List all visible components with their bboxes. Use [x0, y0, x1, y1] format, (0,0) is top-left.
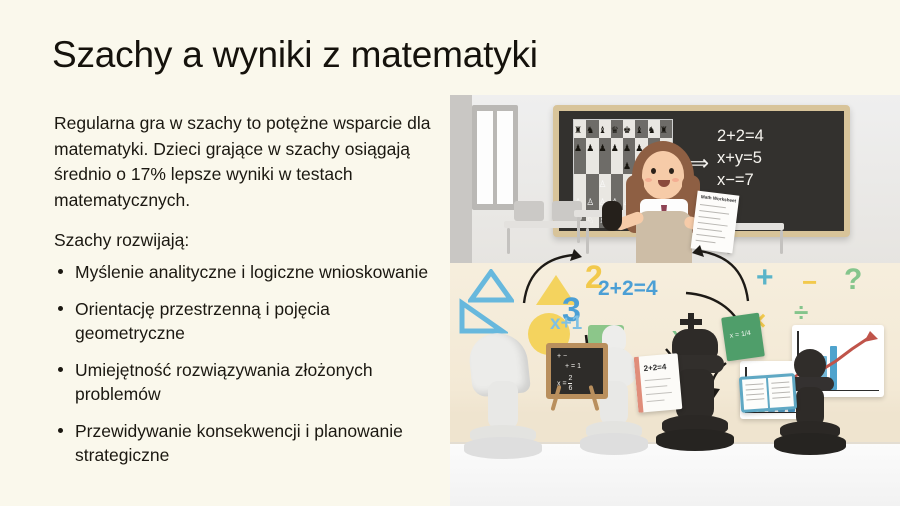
operator-plus-icon: +	[756, 261, 774, 295]
chess-piece-glyph: ♜	[660, 125, 668, 135]
list-item-label: Orientację przestrzenną i pojęcia geomet…	[75, 299, 330, 343]
list-item: Orientację przestrzenną i pojęcia geomet…	[54, 297, 444, 345]
chess-piece-glyph: ♟	[586, 143, 594, 153]
chessboard-square	[586, 174, 598, 192]
chess-piece-glyph: ♟	[574, 143, 582, 153]
cheek	[645, 178, 652, 182]
list-item-label: Przewidywanie konsekwencji i planowanie …	[75, 421, 403, 465]
operator-minus-icon: −	[802, 267, 817, 298]
chessboard-square	[599, 156, 611, 174]
chess-piece-glyph: ♙	[599, 179, 607, 189]
bullet-dot-icon	[58, 269, 63, 274]
bullet-dot-icon	[58, 306, 63, 311]
list-item-label: Myślenie analityczne i logiczne wnioskow…	[75, 262, 428, 282]
list-item: Przewidywanie konsekwencji i planowanie …	[54, 419, 444, 467]
eye	[651, 168, 656, 174]
list-item: Umiejętność rozwiązywania złożonych prob…	[54, 358, 444, 406]
chess-piece-glyph: ♝	[599, 125, 607, 135]
chair	[514, 201, 544, 221]
chess-piece-glyph: ♛	[611, 125, 619, 135]
chess-piece-glyph: ♞	[648, 125, 656, 135]
face	[642, 151, 684, 199]
worksheet-title: Math Worksheet	[701, 194, 737, 203]
equation-card: 2+2=4	[634, 353, 683, 413]
chess-piece-glyph: ♜	[574, 125, 582, 135]
chessboard-square	[574, 156, 586, 174]
illustration-image: ♜♞♝♛♚♝♞♜♟♟♟♟♟♟♟♟♟♙♙♙♙♙♙♙♙♙♖♘♗♕♔♗♘♖ ⟹ 2+2…	[450, 95, 900, 506]
lead-paragraph: Regularna gra w szachy to potężne wsparc…	[54, 111, 444, 213]
chess-piece-held	[602, 201, 622, 231]
card-equation: 2+2=4	[643, 362, 666, 373]
chess-piece-glyph: ♞	[586, 125, 594, 135]
cheek	[672, 178, 679, 182]
text-column: Regularna gra w szachy to potężne wsparc…	[54, 111, 444, 480]
chessboard-square: ♙	[586, 192, 598, 210]
chess-piece-glyph: ♟	[599, 143, 607, 153]
bullet-dot-icon	[58, 428, 63, 433]
fraction-denominator: 6	[568, 384, 572, 393]
arrow-curve-icon	[516, 249, 586, 309]
eye	[669, 168, 674, 174]
equation-blue: 2+2=4	[598, 277, 658, 301]
chessboard-square: ♟	[586, 138, 598, 156]
math-scene: 2 3 2+2=4 x+1 x+y + − ? ÷ ×	[450, 263, 900, 506]
chessboard-square	[574, 174, 586, 192]
worksheet: Math Worksheet	[691, 191, 740, 254]
green-book-equation: x = 1/4	[729, 330, 751, 340]
window	[472, 105, 518, 210]
chess-piece-glyph: ♝	[635, 125, 643, 135]
easel-line: + −	[557, 352, 567, 361]
wall-panel	[450, 95, 472, 270]
chessboard-square	[586, 156, 598, 174]
chessboard-square: ♟	[574, 138, 586, 156]
benefits-list: Myślenie analityczne i logiczne wnioskow…	[54, 260, 444, 467]
easel: + − + = 1 x = 2 6	[546, 343, 614, 429]
chessboard-square: ♟	[599, 138, 611, 156]
bullet-dot-icon	[58, 367, 63, 372]
triangle-outline-blue-icon-2	[454, 297, 508, 337]
chess-piece-glyph: ♚	[623, 125, 631, 135]
operator-question-icon: ?	[844, 263, 862, 297]
chess-piece-glyph: ♙	[586, 197, 594, 207]
list-item-label: Umiejętność rozwiązywania złożonych prob…	[75, 360, 373, 404]
slide-canvas: Szachy a wyniki z matematyki Regularna g…	[0, 0, 900, 506]
sub-lead-text: Szachy rozwijają:	[54, 228, 444, 253]
operator-divide-icon: ÷	[794, 297, 808, 328]
white-knight	[458, 333, 546, 463]
chessboard-square: ♜	[574, 120, 586, 138]
easel-line: + = 1	[565, 362, 581, 371]
fraction-numerator: 2	[568, 374, 572, 384]
chessboard-square: ♞	[586, 120, 598, 138]
chessboard-square: ♙	[599, 174, 611, 192]
green-book: x = 1/4	[721, 313, 765, 362]
list-item: Myślenie analityczne i logiczne wnioskow…	[54, 260, 444, 284]
open-book-icon	[739, 373, 797, 413]
chessboard-square: ♝	[599, 120, 611, 138]
page-title: Szachy a wyniki z matematyki	[52, 34, 538, 76]
